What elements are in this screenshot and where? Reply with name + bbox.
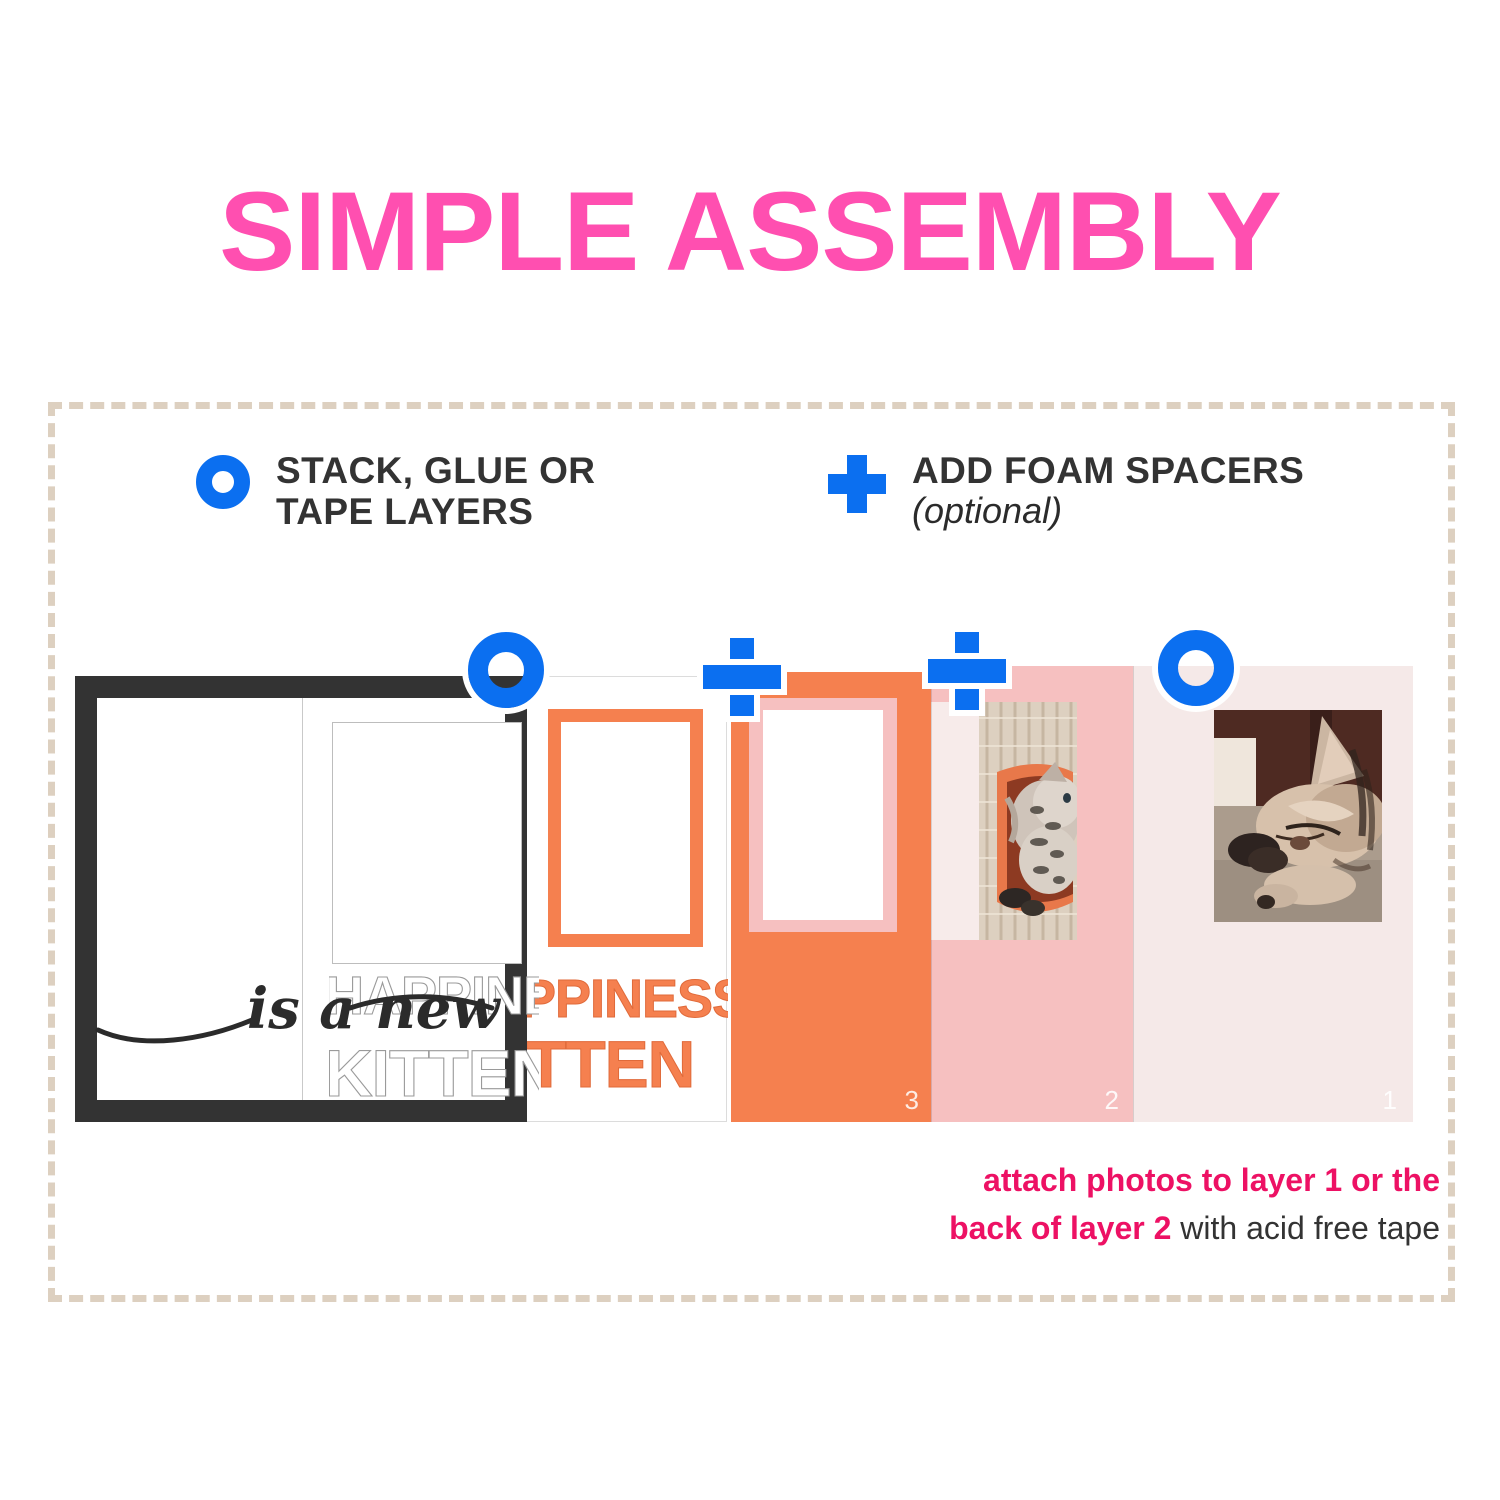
layer-1-photo xyxy=(1214,710,1382,922)
layer-4-title-card[interactable]: HAPPINESS KITTEN xyxy=(519,676,727,1122)
layer-1-backer[interactable]: 1 xyxy=(1133,666,1413,1122)
layer-number: 3 xyxy=(905,1085,919,1116)
note-line-2-bold: back of layer 2 xyxy=(949,1210,1171,1246)
ring-icon xyxy=(468,632,544,708)
layer-3-window-mat xyxy=(749,698,897,932)
note-line-1: attach photos to layer 1 or the xyxy=(983,1162,1440,1198)
layer-3-window xyxy=(763,710,883,920)
photo-attachment-note: attach photos to layer 1 or the back of … xyxy=(740,1156,1440,1252)
badge-plus-right xyxy=(928,632,1006,710)
plus-icon xyxy=(703,638,781,716)
note-line-2-plain: with acid free tape xyxy=(1171,1210,1440,1246)
layer-5-photo-placeholder xyxy=(332,722,522,964)
layer-4-photo-frame xyxy=(548,709,703,947)
badge-ring-left xyxy=(468,632,544,708)
badge-plus-middle xyxy=(703,638,781,716)
ring-icon xyxy=(1158,630,1234,706)
svg-text:HAPPINESS: HAPPINESS xyxy=(520,969,728,1029)
layer-2-inner-mat xyxy=(931,702,1077,940)
layer-5-inner-card: HAPPINESS KITTEN is a new xyxy=(97,698,505,1100)
layer-2-photo xyxy=(979,702,1077,940)
layer-3-orange-frame[interactable]: 3 xyxy=(731,672,931,1122)
svg-text:KITTEN: KITTEN xyxy=(520,1027,694,1099)
layer-4-words: HAPPINESS KITTEN xyxy=(520,959,728,1099)
layer-number: 1 xyxy=(1383,1085,1397,1116)
layer-2-mat[interactable]: 2 xyxy=(931,666,1133,1122)
plus-icon xyxy=(928,632,1006,710)
layer-stack: 1 xyxy=(0,0,1500,1500)
layer-5-script-text: is a new xyxy=(92,978,522,1058)
layer-5-black-frame-card[interactable]: HAPPINESS KITTEN is a new xyxy=(75,676,527,1122)
layer-number: 2 xyxy=(1105,1085,1119,1116)
badge-ring-right xyxy=(1158,630,1234,706)
svg-text:is a new: is a new xyxy=(247,978,501,1042)
